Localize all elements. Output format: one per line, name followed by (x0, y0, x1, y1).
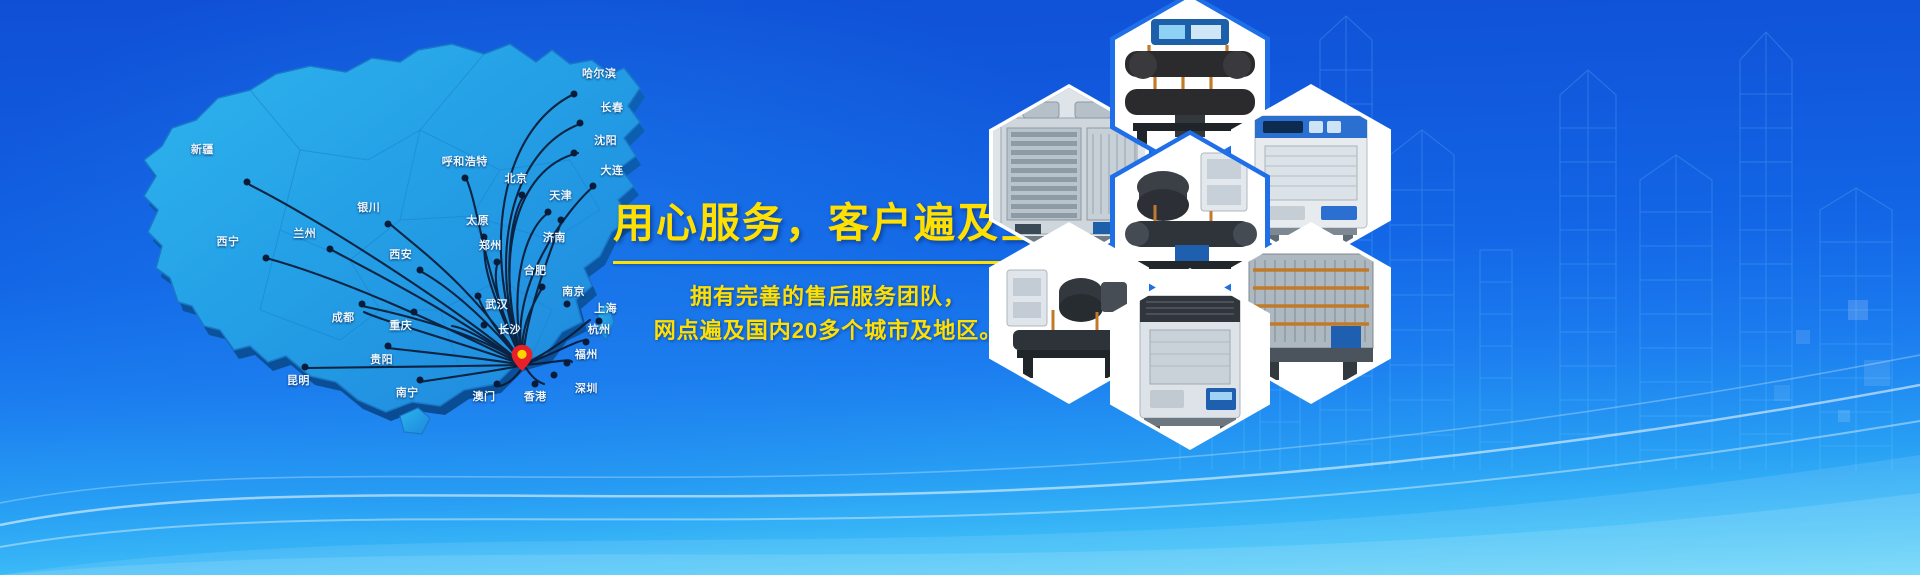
city-label: 太原 (466, 212, 489, 228)
city-dot (301, 364, 308, 371)
city-label: 成都 (332, 309, 355, 325)
city-dot (493, 259, 500, 266)
city-label: 合肥 (524, 262, 547, 278)
city-label: 西安 (389, 246, 412, 262)
city-dot (417, 267, 424, 274)
city-label: 香港 (524, 388, 547, 404)
city-dot (410, 309, 417, 316)
city-dot (577, 120, 584, 127)
city-label: 昆明 (287, 372, 310, 388)
city-label: 西宁 (217, 233, 240, 249)
city-dot (493, 380, 500, 387)
city-dot (359, 301, 366, 308)
city-label: 杭州 (588, 321, 611, 337)
decor-square-4 (1774, 385, 1790, 401)
city-label: 银川 (357, 199, 380, 215)
city-label: 南宁 (396, 384, 419, 400)
city-label: 天津 (549, 187, 572, 203)
city-label: 贵阳 (370, 351, 393, 367)
city-dot (532, 380, 539, 387)
decor-square-5 (1838, 410, 1850, 422)
city-dot (461, 175, 468, 182)
city-dot (263, 254, 270, 261)
city-label: 哈尔滨 (582, 65, 617, 81)
city-label: 南京 (562, 283, 585, 299)
city-dot (583, 338, 590, 345)
city-dot (385, 221, 392, 228)
city-label: 福州 (575, 346, 598, 362)
city-dot (557, 217, 564, 224)
city-dot (481, 322, 488, 329)
city-dot (244, 179, 251, 186)
decor-square-1 (1848, 300, 1868, 320)
city-dot (564, 359, 571, 366)
city-label: 大连 (601, 162, 624, 178)
city-dot (570, 149, 577, 156)
city-dot (417, 376, 424, 383)
city-dot (385, 343, 392, 350)
city-label: 郑州 (479, 237, 502, 253)
city-label: 武汉 (485, 296, 508, 312)
city-dot (474, 292, 481, 299)
decor-square-2 (1796, 330, 1810, 344)
city-label: 澳门 (473, 388, 496, 404)
city-dot (519, 191, 526, 198)
city-label: 济南 (543, 229, 566, 245)
headquarters-pin-icon (511, 345, 533, 371)
city-label: 新疆 (191, 141, 214, 157)
service-network-banner: 新疆哈尔滨长春沈阳呼和浩特北京天津大连银川太原兰州西宁西安郑州济南合肥南京武汉长… (0, 0, 1920, 575)
city-dot (327, 246, 334, 253)
city-label: 兰州 (293, 225, 316, 241)
city-label: 长沙 (498, 321, 521, 337)
city-dot (545, 208, 552, 215)
product-hexagon-gallery (955, 0, 1475, 452)
city-label: 北京 (505, 170, 528, 186)
city-dot (551, 372, 558, 379)
city-label: 长春 (601, 99, 624, 115)
city-dot (564, 301, 571, 308)
decor-square-3 (1864, 360, 1890, 386)
city-dot (589, 183, 596, 190)
city-label: 深圳 (575, 380, 598, 396)
city-dot (538, 284, 545, 291)
city-label: 重庆 (389, 317, 412, 333)
city-dot (570, 91, 577, 98)
city-label: 沈阳 (594, 132, 617, 148)
city-label: 呼和浩特 (442, 153, 488, 169)
